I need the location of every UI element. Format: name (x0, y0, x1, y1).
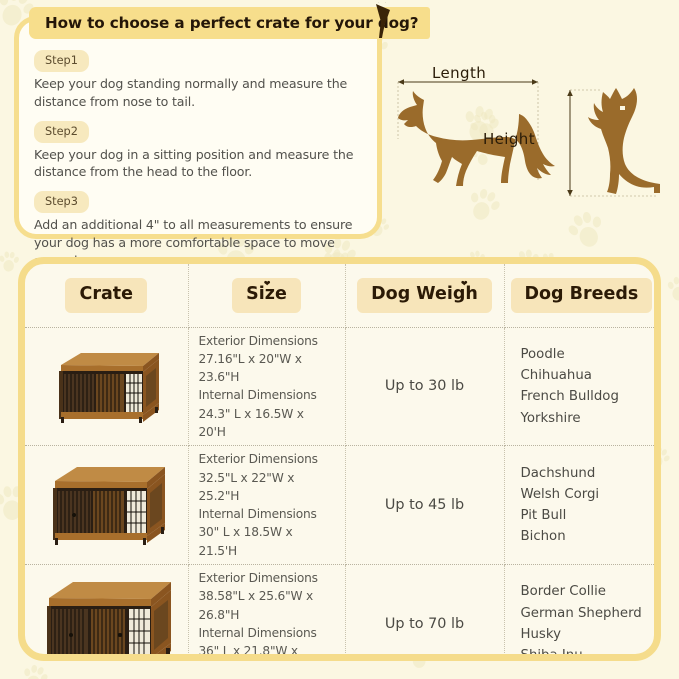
small-wooden-dog-crate-icon (47, 345, 165, 427)
heart-icon: ❤ (264, 280, 271, 288)
exterior-dimensions-value: 38.58"L x 25.6"W x 26.8"H (199, 587, 335, 624)
weight-cell: Up to 70 lb (345, 565, 504, 661)
breed-item: Poodle (521, 344, 645, 365)
step-item: Step2 Keep your dog in a sitting positio… (34, 120, 361, 182)
table-body: Exterior Dimensions 27.16"L x 20"W x 23.… (25, 327, 654, 661)
exterior-dimensions-value: 27.16"L x 20"W x 23.6"H (199, 350, 335, 387)
medium-wooden-dog-crate-icon (41, 461, 171, 549)
exterior-dimensions-label: Exterior Dimensions (199, 450, 335, 468)
callout-steps-list: Step1 Keep your dog standing normally an… (19, 21, 377, 269)
table-row: Exterior Dimensions 38.58"L x 25.6"W x 2… (25, 565, 654, 661)
crate-comparison-table-card: Crate Size ❤ Dog Weigh ❤ Dog Breeds (18, 257, 661, 661)
crate-image-cell (25, 327, 188, 446)
dog-ear-pointer-icon (374, 2, 394, 38)
weight-cell: Up to 30 lb (345, 327, 504, 446)
large-wooden-dog-crate-icon (35, 576, 177, 661)
column-header-size: Size ❤ (188, 264, 345, 327)
length-label: Length (432, 64, 486, 82)
crate-image-cell (25, 446, 188, 565)
table-row: Exterior Dimensions 27.16"L x 20"W x 23.… (25, 327, 654, 446)
crate-image-cell (25, 565, 188, 661)
breeds-cell: Dachshund Welsh Corgi Pit Bull Bichon (504, 446, 654, 565)
step-description: Keep your dog standing normally and meas… (34, 75, 361, 110)
paw-print-icon (19, 660, 52, 679)
crate-comparison-table: Crate Size ❤ Dog Weigh ❤ Dog Breeds (25, 264, 654, 661)
step-badge: Step1 (34, 50, 89, 72)
header-pill-size: Size ❤ (232, 278, 301, 314)
breed-item: Welsh Corgi (521, 484, 645, 505)
breeds-cell: Poodle Chihuahua French Bulldog Yorkshir… (504, 327, 654, 446)
column-header-dog-breeds: Dog Breeds (504, 264, 654, 327)
internal-dimensions-label: Internal Dimensions (199, 624, 335, 642)
how-to-choose-callout: How to choose a perfect crate for your d… (14, 16, 382, 239)
weight-cell: Up to 45 lb (345, 446, 504, 565)
breed-item: German Shepherd (521, 603, 645, 624)
internal-dimensions-value: 36" L x 21.8"W x 23.4'H (199, 642, 335, 661)
step-item: Step1 Keep your dog standing normally an… (34, 49, 361, 111)
step-badge: Step3 (34, 191, 89, 213)
internal-dimensions-label: Internal Dimensions (199, 386, 335, 404)
breed-item: French Bulldog (521, 386, 645, 407)
breed-item: Chihuahua (521, 365, 645, 386)
column-header-dog-weigh: Dog Weigh ❤ (345, 264, 504, 327)
header-pill-dog-weigh: Dog Weigh ❤ (357, 278, 492, 314)
size-cell: Exterior Dimensions 27.16"L x 20"W x 23.… (188, 327, 345, 446)
step-description: Keep your dog in a sitting position and … (34, 146, 361, 181)
table-row: Exterior Dimensions 32.5"L x 22"W x 25.2… (25, 446, 654, 565)
paw-print-icon (0, 249, 20, 273)
breed-item: Pit Bull (521, 505, 645, 526)
exterior-dimensions-value: 32.5"L x 22"W x 25.2"H (199, 469, 335, 506)
exterior-dimensions-label: Exterior Dimensions (199, 569, 335, 587)
table-header: Crate Size ❤ Dog Weigh ❤ Dog Breeds (25, 264, 654, 327)
table-header-row: Crate Size ❤ Dog Weigh ❤ Dog Breeds (25, 264, 654, 327)
breed-item: Husky (521, 624, 645, 645)
sitting-dog-silhouette-icon (588, 88, 660, 194)
internal-dimensions-value: 24.3" L x 16.5W x 20'H (199, 405, 335, 442)
paw-print-icon (666, 274, 679, 302)
header-pill-dog-breeds: Dog Breeds (511, 278, 653, 314)
size-cell: Exterior Dimensions 32.5"L x 22"W x 25.2… (188, 446, 345, 565)
column-header-crate: Crate (25, 264, 188, 327)
breeds-cell: Border Collie German Shepherd Husky Shib… (504, 565, 654, 661)
exterior-dimensions-label: Exterior Dimensions (199, 332, 335, 350)
internal-dimensions-value: 30" L x 18.5W x 21.5'H (199, 523, 335, 560)
breed-item: Dachshund (521, 463, 645, 484)
size-cell: Exterior Dimensions 38.58"L x 25.6"W x 2… (188, 565, 345, 661)
callout-title: How to choose a perfect crate for your d… (29, 7, 430, 39)
dog-measurement-diagram: Length Height (388, 44, 674, 240)
internal-dimensions-label: Internal Dimensions (199, 505, 335, 523)
breed-item: Border Collie (521, 581, 645, 602)
step-badge: Step2 (34, 121, 89, 143)
breed-item: Bichon (521, 526, 645, 547)
heart-icon: ❤ (461, 280, 468, 288)
breed-item: Yorkshire (521, 408, 645, 429)
height-label: Height (483, 130, 535, 148)
breed-item: Shiba Inu (521, 645, 645, 661)
header-pill-crate: Crate (65, 278, 147, 314)
